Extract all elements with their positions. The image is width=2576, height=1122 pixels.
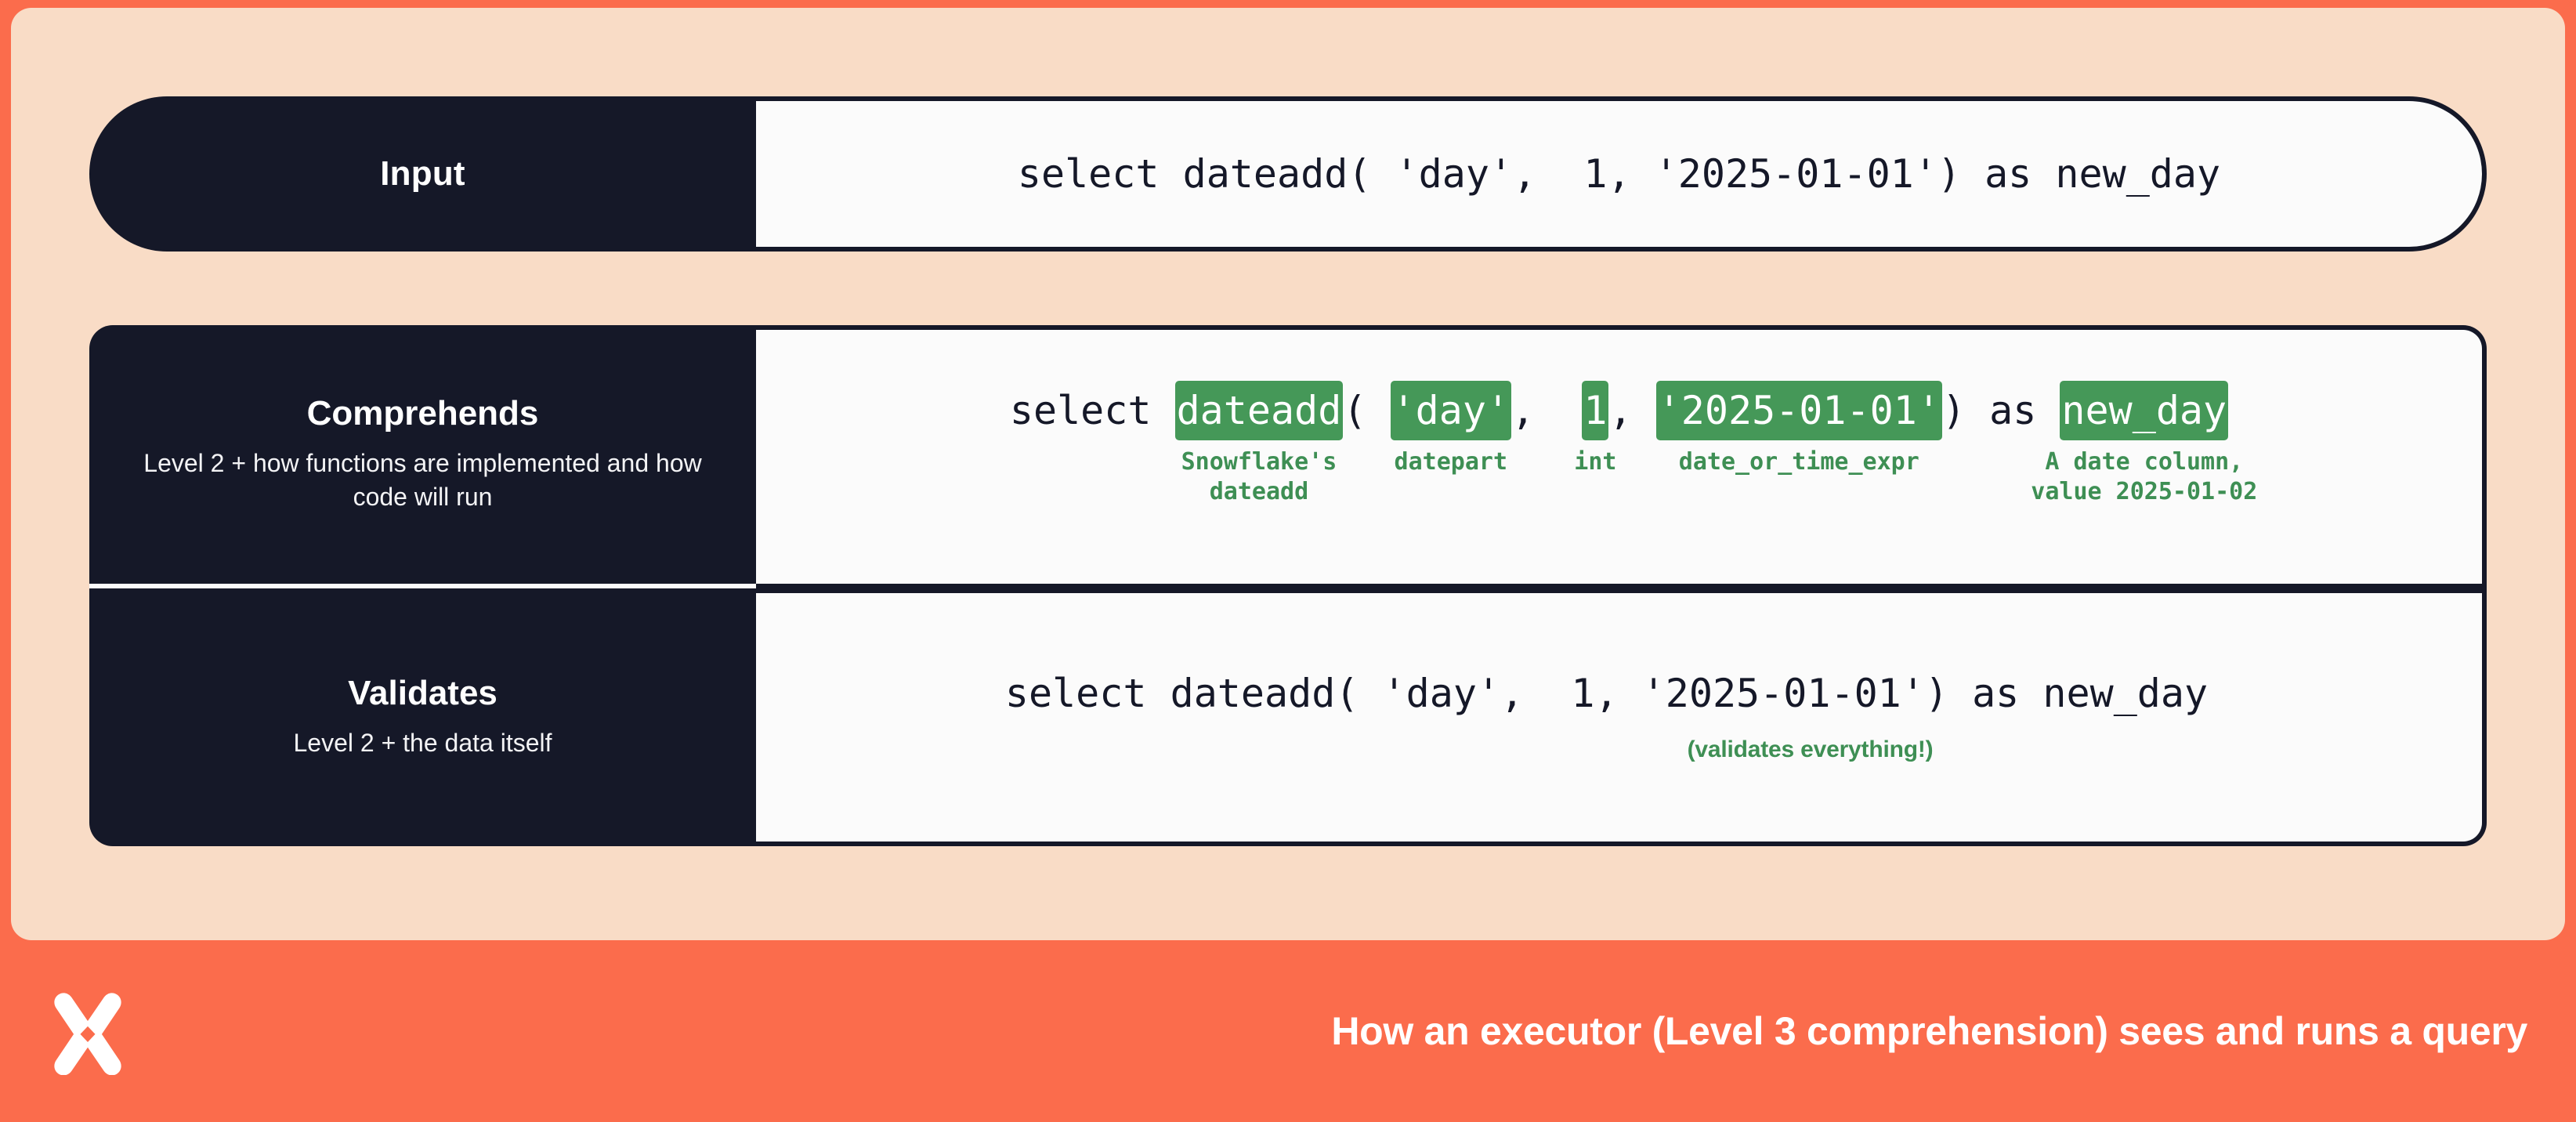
comprehends-annotation-notes: Snowflake'sdateadddatepartintdate_or_tim…: [1010, 447, 2228, 523]
input-row-label: Input: [89, 96, 756, 252]
comprehends-row: Comprehends Level 2 + how functions are …: [89, 325, 2487, 584]
validates-label-panel: Validates Level 2 + the data itself: [89, 588, 756, 847]
input-label-text: Input: [380, 154, 465, 194]
poster-root: Input select dateadd( 'day', 1, '2025-01…: [0, 0, 2576, 1122]
footer-title-text: How an executor (Level 3 comprehension) …: [1331, 1008, 2527, 1054]
comprehends-code-text: select dateadd( 'day', 1, '2025-01-01') …: [1010, 391, 2228, 430]
annotation-day: datepart: [1395, 447, 1508, 477]
validates-title: Validates: [348, 674, 497, 714]
comprehends-annotated-code: select dateadd( 'day', 1, '2025-01-01') …: [1010, 391, 2228, 523]
content-canvas: Input select dateadd( 'day', 1, '2025-01…: [11, 8, 2565, 940]
validates-note: (validates everything!): [1688, 737, 1934, 763]
x-butterfly-logo-icon: [44, 987, 132, 1075]
code-highlight-1: 1: [1582, 381, 1608, 440]
annotation-20250101: date_or_time_expr: [1679, 447, 1919, 477]
annotation-new_day: A date column,value 2025-01-02: [2031, 447, 2257, 508]
code-plain: ,: [1511, 388, 1582, 433]
input-code-text: select dateadd( 'day', 1, '2025-01-01') …: [1018, 151, 2220, 197]
comprehends-subtitle: Level 2 + how functions are implemented …: [118, 447, 728, 514]
validates-code-panel: select dateadd( 'day', 1, '2025-01-01') …: [756, 588, 2487, 847]
validates-code-stack: select dateadd( 'day', 1, '2025-01-01') …: [1005, 671, 2208, 763]
validates-subtitle: Level 2 + the data itself: [294, 726, 552, 760]
code-highlight-new_day: new_day: [2060, 381, 2228, 440]
input-row-code-panel: select dateadd( 'day', 1, '2025-01-01') …: [756, 96, 2487, 252]
validates-row: Validates Level 2 + the data itself sele…: [89, 588, 2487, 847]
code-plain: (: [1343, 388, 1390, 433]
code-highlight-day: 'day': [1391, 381, 1512, 440]
annotation-1: int: [1574, 447, 1616, 477]
code-plain: ,: [1608, 388, 1655, 433]
code-highlight-dateadd: dateadd: [1175, 381, 1344, 440]
input-row: Input select dateadd( 'day', 1, '2025-01…: [89, 96, 2487, 252]
levels-card: Comprehends Level 2 + how functions are …: [89, 325, 2487, 846]
code-highlight-20250101: '2025-01-01': [1656, 381, 1942, 440]
code-plain: select: [1010, 388, 1175, 433]
code-plain: ) as: [1942, 388, 2060, 433]
comprehends-title: Comprehends: [307, 394, 539, 434]
annotation-dateadd: Snowflake'sdateadd: [1181, 447, 1337, 508]
comprehends-code-panel: select dateadd( 'day', 1, '2025-01-01') …: [756, 325, 2487, 584]
validates-code-text: select dateadd( 'day', 1, '2025-01-01') …: [1005, 671, 2208, 716]
footer-bar: How an executor (Level 3 comprehension) …: [0, 940, 2576, 1122]
comprehends-label-panel: Comprehends Level 2 + how functions are …: [89, 325, 756, 584]
